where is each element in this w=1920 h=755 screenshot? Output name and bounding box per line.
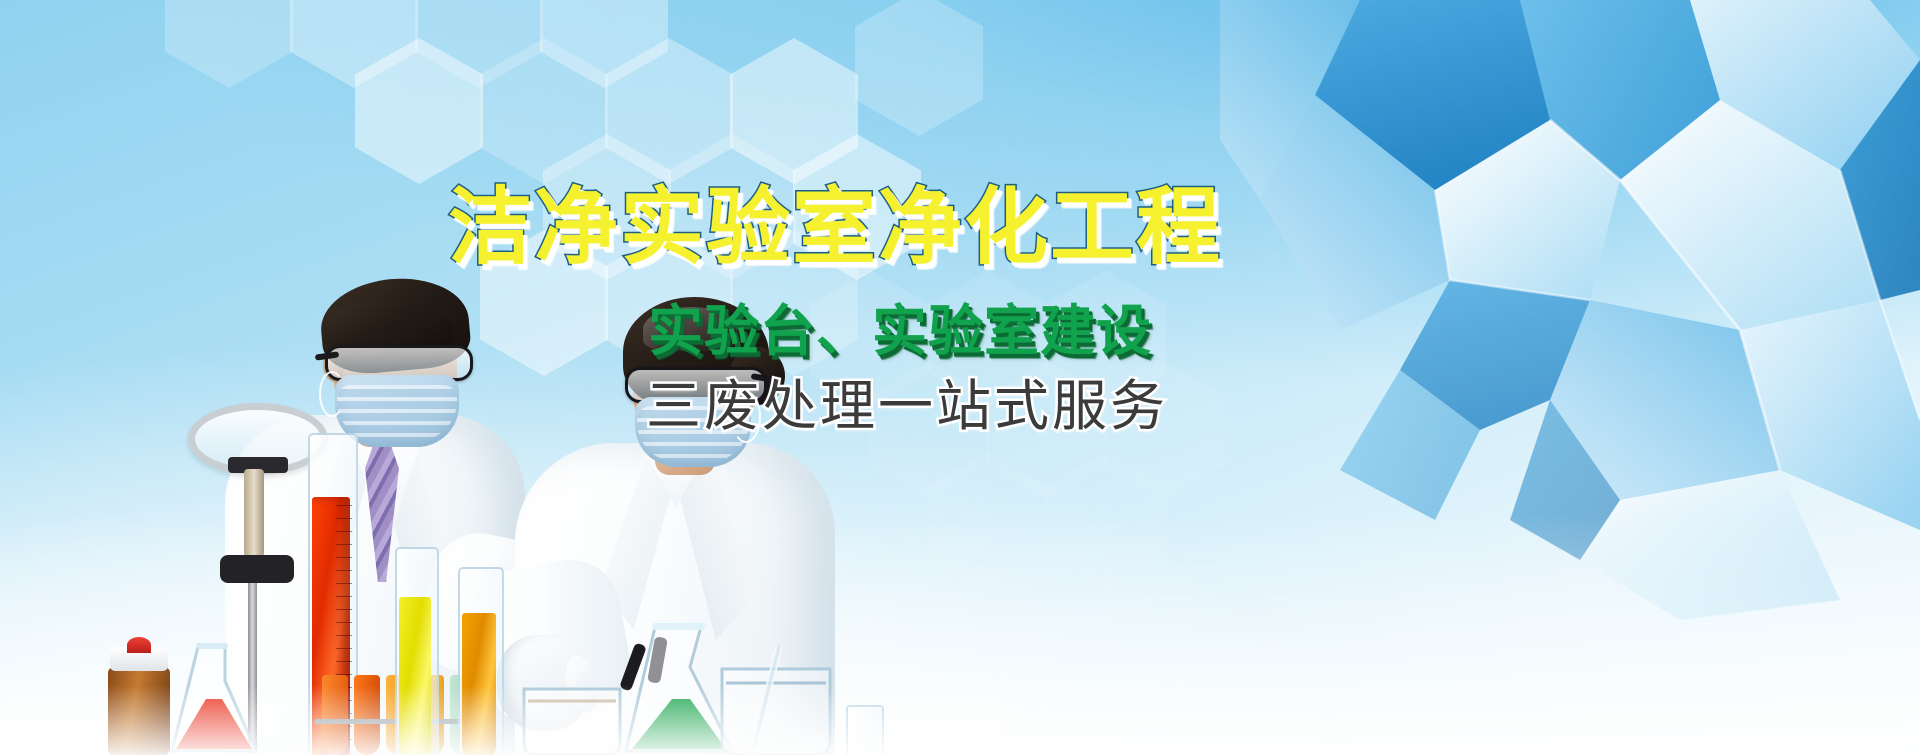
banner-subheadline-green: 实验台、实验室建设 xyxy=(648,300,1152,362)
banner-root: 洁净实验室净化工程 实验台、实验室建设 三废处理一站式服务 xyxy=(0,0,1920,755)
banner-subheadline-gray: 三废处理一站式服务 xyxy=(646,375,1168,437)
banner-headline: 洁净实验室净化工程 xyxy=(448,181,1222,273)
banner-text-block: 洁净实验室净化工程 实验台、实验室建设 三废处理一站式服务 xyxy=(0,0,1920,755)
